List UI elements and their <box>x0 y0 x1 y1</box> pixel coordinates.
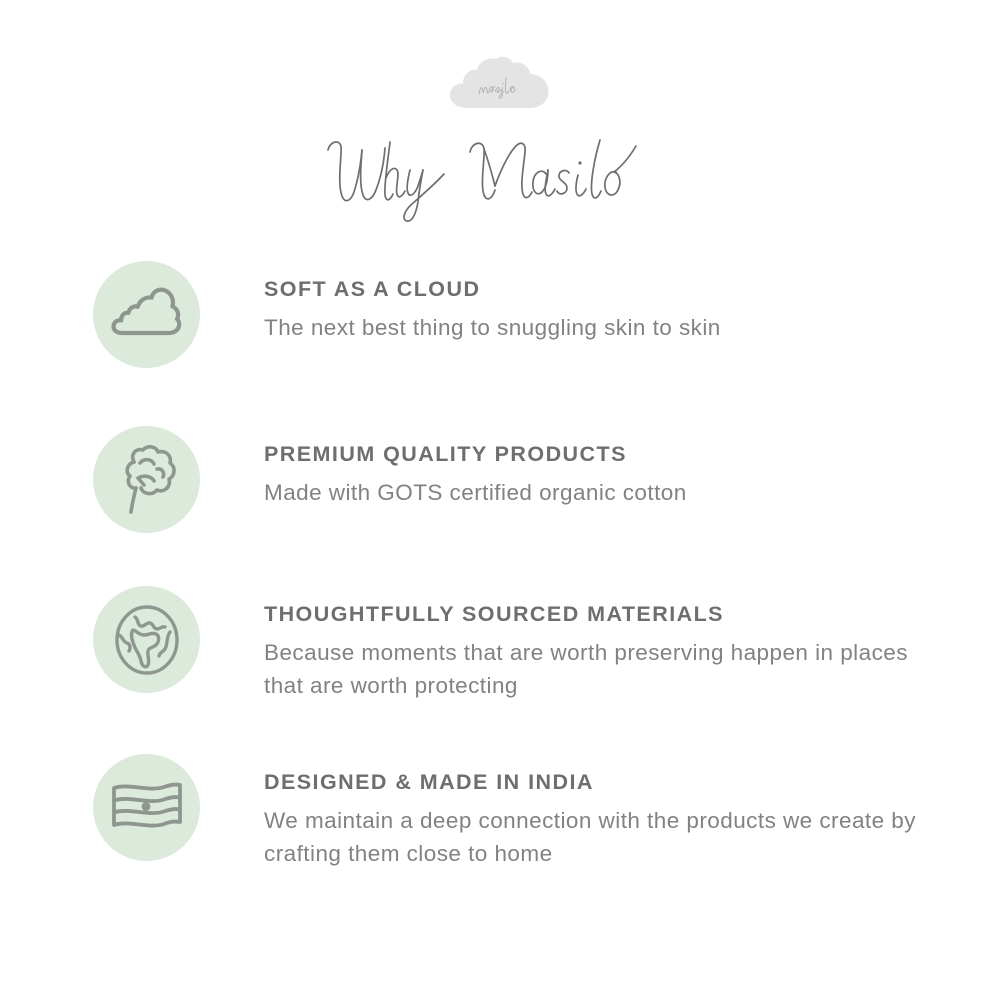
page-title-script <box>320 128 680 233</box>
feature-icon-badge <box>93 426 200 533</box>
feature-text-block: SOFT AS A CLOUD The next best thing to s… <box>200 255 1000 344</box>
cloud-logo-icon <box>448 56 552 114</box>
feature-row: THOUGHTFULLY SOURCED MATERIALS Because m… <box>0 580 1000 748</box>
feature-title: PREMIUM QUALITY PRODUCTS <box>264 442 1000 468</box>
india-flag-icon <box>109 780 185 836</box>
cotton-boll-icon <box>116 444 178 516</box>
feature-row: DESIGNED & MADE IN INDIA We maintain a d… <box>0 748 1000 923</box>
feature-icon-badge <box>93 586 200 693</box>
feature-icon-badge <box>93 754 200 861</box>
globe-icon <box>113 604 181 676</box>
feature-description: We maintain a deep connection with the p… <box>264 804 924 871</box>
feature-list: SOFT AS A CLOUD The next best thing to s… <box>0 255 1000 923</box>
feature-icon-badge <box>93 261 200 368</box>
feature-text-block: PREMIUM QUALITY PRODUCTS Made with GOTS … <box>200 420 1000 509</box>
feature-description: Because moments that are worth preservin… <box>264 636 924 703</box>
feature-row: SOFT AS A CLOUD The next best thing to s… <box>0 255 1000 420</box>
feature-title: DESIGNED & MADE IN INDIA <box>264 770 1000 796</box>
feature-row: PREMIUM QUALITY PRODUCTS Made with GOTS … <box>0 420 1000 580</box>
feature-text-block: DESIGNED & MADE IN INDIA We maintain a d… <box>200 748 1000 870</box>
feature-text-block: THOUGHTFULLY SOURCED MATERIALS Because m… <box>200 580 1000 702</box>
masilo-cloud-logo <box>448 56 552 114</box>
feature-description: Made with GOTS certified organic cotton <box>264 476 924 509</box>
cloud-icon <box>111 286 183 344</box>
page-title-container <box>0 128 1000 238</box>
brand-logo-container <box>0 56 1000 114</box>
feature-description: The next best thing to snuggling skin to… <box>264 311 924 344</box>
feature-title: THOUGHTFULLY SOURCED MATERIALS <box>264 602 1000 628</box>
feature-title: SOFT AS A CLOUD <box>264 277 1000 303</box>
